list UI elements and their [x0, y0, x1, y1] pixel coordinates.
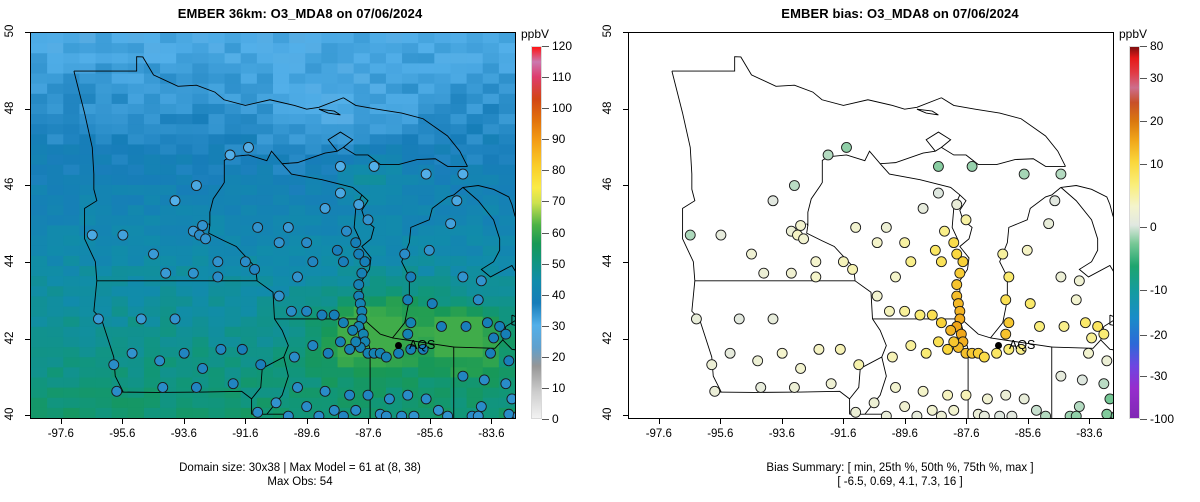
colorbar-tick [542, 139, 549, 140]
y-tick [623, 415, 628, 416]
x-tick [368, 419, 369, 424]
colorbar-tick [1140, 78, 1147, 79]
x-tick-label: -95.6 [97, 428, 147, 440]
caption-bias-line2: [ -6.5, 0.69, 4.1, 7.3, 16 ] [600, 475, 1200, 489]
x-tick-label: -87.6 [941, 428, 991, 440]
caption-bias: Bias Summary: [ min, 25th %, 50th %, 75t… [600, 461, 1200, 489]
colorbar-tick [1140, 227, 1147, 228]
x-tick [659, 419, 660, 424]
y-tick [25, 109, 30, 110]
y-tick-label: 46 [4, 171, 16, 197]
colorbar-tick [542, 357, 549, 358]
colorbar-tick [542, 233, 549, 234]
y-tick-label: 42 [602, 325, 614, 351]
colorbar-tick-label: 80 [552, 163, 565, 177]
colorbar-tick-label: 80 [1150, 39, 1163, 53]
x-tick-label: -91.6 [220, 428, 270, 440]
x-tick-label: -83.6 [1064, 428, 1114, 440]
x-tick-label: -97.6 [634, 428, 684, 440]
colorbar-tick [1140, 164, 1147, 165]
y-tick [623, 185, 628, 186]
panel-title-model: EMBER 36km: O3_MDA8 on 07/06/2024 [0, 6, 600, 21]
x-tick-label: -89.6 [282, 428, 332, 440]
aqs-legend-label: AQS [409, 338, 435, 352]
x-tick-label: -97.6 [36, 428, 86, 440]
x-tick-label: -83.6 [466, 428, 516, 440]
colorbar-tick [542, 108, 549, 109]
x-tick [720, 419, 721, 424]
colorbar-tick-label: 20 [1150, 114, 1163, 128]
x-tick-label: -93.6 [159, 428, 209, 440]
colorbar-tick-label: 120 [552, 39, 572, 53]
model-field-svg [31, 33, 515, 418]
panel-bias: EMBER bias: O3_MDA8 on 07/06/2024 -97.6-… [600, 0, 1200, 502]
y-tick-label: 40 [4, 401, 16, 427]
x-tick [184, 419, 185, 424]
colorbar-tick-label: -20 [1150, 328, 1167, 342]
map-plot-model[interactable] [30, 32, 516, 419]
panel-title-bias: EMBER bias: O3_MDA8 on 07/06/2024 [600, 6, 1200, 21]
colorbar-unit-model: ppbV [521, 27, 549, 41]
x-tick [122, 419, 123, 424]
colorbar-tick [542, 264, 549, 265]
colorbar-tick [542, 388, 549, 389]
colorbar-tick [1140, 376, 1147, 377]
x-tick [307, 419, 308, 424]
y-tick [25, 415, 30, 416]
x-tick-label: -85.6 [405, 428, 455, 440]
x-tick [966, 419, 967, 424]
panel-model: EMBER 36km: O3_MDA8 on 07/06/2024 -97.6-… [0, 0, 600, 502]
x-tick [61, 419, 62, 424]
x-tick-label: -91.6 [818, 428, 868, 440]
y-tick [623, 32, 628, 33]
x-tick-label: -85.6 [1003, 428, 1053, 440]
y-tick [25, 262, 30, 263]
colorbar-tick-label: 110 [552, 70, 571, 84]
x-tick-label: -87.6 [343, 428, 393, 440]
y-tick [623, 262, 628, 263]
x-tick-label: -93.6 [757, 428, 807, 440]
aqs-dot-icon [995, 342, 1002, 349]
colorbar-tick-label: 100 [552, 101, 572, 115]
y-tick-label: 40 [602, 401, 614, 427]
x-tick [430, 419, 431, 424]
x-tick [905, 419, 906, 424]
x-tick [245, 419, 246, 424]
y-tick [25, 339, 30, 340]
x-tick [1089, 419, 1090, 424]
x-tick-label: -95.6 [695, 428, 745, 440]
y-tick-label: 50 [4, 18, 16, 44]
colorbar-tick-label: 30 [552, 319, 565, 333]
colorbar-tick-label: 50 [552, 257, 565, 271]
colorbar-tick [542, 419, 549, 420]
colorbar-tick-label: 0 [1150, 220, 1157, 234]
x-tick [491, 419, 492, 424]
caption-bias-line1: Bias Summary: [ min, 25th %, 50th %, 75t… [600, 461, 1200, 475]
colorbar-tick-label: 20 [552, 350, 565, 364]
colorbar-tick [1140, 46, 1147, 47]
figure-root: EMBER 36km: O3_MDA8 on 07/06/2024 -97.6-… [0, 0, 1200, 502]
colorbar-tick [542, 170, 549, 171]
aqs-legend-model: AQS [395, 338, 435, 352]
colorbar-tick [1140, 290, 1147, 291]
y-tick [25, 32, 30, 33]
x-tick-label: -89.6 [880, 428, 930, 440]
colorbar-tick [1140, 419, 1147, 420]
colorbar-tick [1140, 335, 1147, 336]
colorbar-tick [542, 46, 549, 47]
colorbar-tick [542, 77, 549, 78]
colorbar-strip-bias [1129, 46, 1140, 419]
map-plot-bias[interactable] [628, 32, 1114, 419]
y-tick [623, 109, 628, 110]
caption-model: Domain size: 30x38 | Max Model = 61 at (… [0, 461, 600, 489]
caption-model-line2: Max Obs: 54 [0, 475, 600, 489]
y-tick-label: 46 [602, 171, 614, 197]
x-tick [843, 419, 844, 424]
colorbar-tick-label: 30 [1150, 71, 1163, 85]
aqs-dot-icon [395, 342, 402, 349]
colorbar-tick-label: 0 [552, 412, 559, 426]
colorbar-tick [542, 326, 549, 327]
y-tick [25, 185, 30, 186]
bias-field-svg [629, 33, 1113, 418]
colorbar-tick-label: 90 [552, 132, 565, 146]
colorbar-tick [542, 201, 549, 202]
y-tick-label: 44 [4, 248, 16, 274]
y-tick-label: 50 [602, 18, 614, 44]
aqs-legend-bias: AQS [995, 338, 1035, 352]
y-tick-label: 48 [4, 95, 16, 121]
colorbar-tick-label: -100 [1150, 412, 1174, 426]
colorbar-tick-label: 40 [552, 288, 565, 302]
aqs-legend-label: AQS [1009, 338, 1035, 352]
y-tick-label: 42 [4, 325, 16, 351]
caption-model-line1: Domain size: 30x38 | Max Model = 61 at (… [0, 461, 600, 475]
x-tick [1028, 419, 1029, 424]
colorbar-unit-bias: ppbV [1119, 27, 1147, 41]
x-tick [782, 419, 783, 424]
y-tick [623, 339, 628, 340]
colorbar-tick-label: 10 [552, 381, 565, 395]
colorbar-tick-label: 60 [552, 226, 565, 240]
colorbar-tick [1140, 121, 1147, 122]
colorbar-strip-model [531, 46, 542, 419]
y-tick-label: 44 [602, 248, 614, 274]
y-tick-label: 48 [602, 95, 614, 121]
colorbar-tick-label: -30 [1150, 369, 1167, 383]
colorbar-tick [542, 295, 549, 296]
colorbar-tick-label: 10 [1150, 157, 1163, 171]
colorbar-tick-label: -10 [1150, 283, 1167, 297]
colorbar-tick-label: 70 [552, 194, 565, 208]
